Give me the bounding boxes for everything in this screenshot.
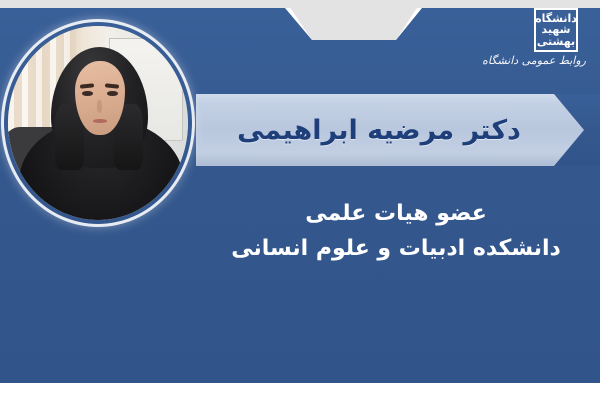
- role-title: عضو هیات علمی: [200, 198, 592, 231]
- university-logo: دانشگاه شهید بهشتی روابط عمومی دانشگاه: [490, 4, 586, 84]
- public-relations-caption: روابط عمومی دانشگاه: [490, 54, 586, 67]
- role-block: عضو هیات علمی دانشکده ادبیات و علوم انسا…: [200, 198, 592, 265]
- eye-left: [82, 91, 93, 96]
- avatar-photo-clip: [8, 26, 188, 220]
- bottom-white-strip: [0, 383, 600, 400]
- avatar: [4, 22, 192, 224]
- department-name: دانشکده ادبیات و علوم انسانی: [200, 233, 592, 266]
- faculty-name: دکتر مرضیه ابراهیمی: [196, 94, 562, 166]
- university-seal-icon: دانشگاه شهید بهشتی: [534, 8, 578, 52]
- eye-right: [107, 91, 118, 96]
- mouth: [93, 119, 107, 123]
- faculty-profile-card: دکتر مرضیه ابراهیمی عضو هیات علمی دانشکد…: [0, 0, 600, 400]
- portrait-photo: [8, 26, 188, 220]
